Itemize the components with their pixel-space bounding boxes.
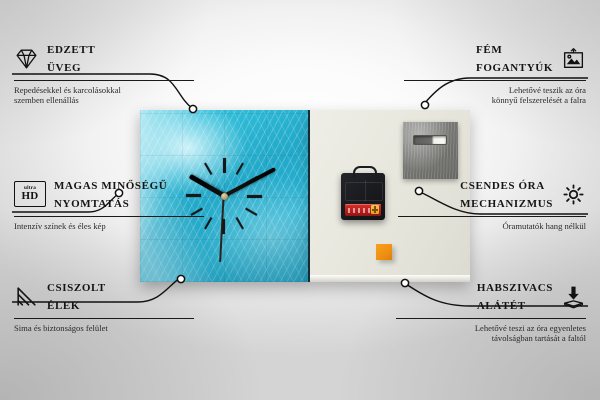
feature-title-line1: MAGAS MINŐSÉGŰ [54, 180, 167, 192]
metal-hanger-plate [403, 122, 458, 179]
feature-title-line2: ÉLEK [47, 300, 80, 312]
feature-title: MAGAS MINŐSÉGŰ NYOMTATÁS [54, 176, 167, 212]
feature-title: FÉM FOGANTYÚK [476, 40, 553, 76]
feature-subtitle-line1: Intenzív színek és éles kép [14, 221, 204, 231]
hanger-keyhole-slot [413, 135, 447, 145]
feature-heading-row: CSENDES ÓRA MECHANIZMUS [398, 176, 586, 212]
feature-title-line1: EDZETT [47, 44, 95, 56]
feature-divider [14, 318, 194, 319]
feature-title: EDZETT ÜVEG [47, 40, 95, 76]
feature-title-line1: HABSZIVACS [477, 282, 553, 294]
infographic-canvas: EDZETT ÜVEG Repedésekkel és karcolásokka… [0, 0, 600, 400]
feature-polished-edges: CSISZOLT ÉLEK Sima és biztonságos felüle… [14, 278, 194, 333]
feature-subtitle-line2: távolságban tartását a faltól [396, 333, 586, 343]
feature-title-line2: ÜVEG [47, 62, 81, 74]
feature-tempered-glass: EDZETT ÜVEG Repedésekkel és karcolásokka… [14, 40, 194, 106]
picture-hanger-icon [561, 46, 586, 71]
gear-icon [561, 182, 586, 207]
feature-title: CSISZOLT ÉLEK [47, 278, 106, 314]
battery-label-bars [348, 208, 370, 213]
feature-heading-row: EDZETT ÜVEG [14, 40, 194, 76]
feature-title-line1: CSISZOLT [47, 282, 106, 294]
feature-divider [404, 80, 586, 81]
feature-title-line1: CSENDES ÓRA [460, 180, 545, 192]
feature-subtitle-line2: szemben ellenállás [14, 95, 194, 105]
feature-title-line2: NYOMTATÁS [54, 198, 129, 210]
feature-subtitle-line2: könnyű felszerelését a falra [404, 95, 586, 105]
feature-subtitle-line1: Sima és biztonságos felület [14, 323, 194, 333]
polished-edges-icon [14, 284, 39, 309]
feature-high-quality-print: ultra HD MAGAS MINŐSÉGŰ NYOMTATÁS Intenz… [14, 176, 204, 231]
clock-mechanism-box [341, 173, 385, 220]
feature-divider [14, 216, 204, 217]
feature-divider [398, 216, 586, 217]
feature-heading-row: FÉM FOGANTYÚK [404, 40, 586, 76]
foam-pad-icon [561, 284, 586, 309]
feature-metal-handles: FÉM FOGANTYÚK Lehetővé teszik az óra kön… [404, 40, 586, 106]
mechanism-hook-icon [353, 166, 377, 178]
feature-title-line1: FÉM [476, 44, 502, 56]
battery-plus-terminal [371, 205, 379, 214]
feature-heading-row: CSISZOLT ÉLEK [14, 278, 194, 314]
feature-subtitle-line1: Óramutatók hang nélkül [398, 221, 586, 231]
feature-title: CSENDES ÓRA MECHANIZMUS [460, 176, 553, 212]
feature-title-line2: MECHANIZMUS [460, 198, 553, 210]
feature-subtitle-line1: Lehetővé teszik az óra [404, 85, 586, 95]
feature-heading-row: ultra HD MAGAS MINŐSÉGŰ NYOMTATÁS [14, 176, 204, 212]
feature-heading-row: HABSZIVACS ALÁTÉT [396, 278, 586, 314]
ultra-hd-icon: ultra HD [14, 181, 46, 207]
ultra-hd-icon-main: HD [22, 191, 39, 202]
feature-divider [14, 80, 194, 81]
feature-subtitle-line1: Lehetővé teszi az óra egyenletes [396, 323, 586, 333]
diamond-icon [14, 46, 39, 71]
feature-subtitle-line1: Repedésekkel és karcolásokkal [14, 85, 194, 95]
feature-divider [396, 318, 586, 319]
clock-center-hub [221, 193, 228, 200]
feature-title: HABSZIVACS ALÁTÉT [477, 278, 553, 314]
aa-battery [345, 204, 381, 216]
feature-foam-pad: HABSZIVACS ALÁTÉT Lehetővé teszi az óra … [396, 278, 586, 344]
feature-title-line2: ALÁTÉT [477, 300, 526, 312]
feature-title-line2: FOGANTYÚK [476, 62, 553, 74]
mechanism-seam [345, 182, 383, 201]
foam-pad [376, 244, 392, 260]
mechanism-seam-vertical [365, 180, 366, 201]
feature-quiet-mechanism: CSENDES ÓRA MECHANIZMUS Óramutatók hang … [398, 176, 586, 231]
